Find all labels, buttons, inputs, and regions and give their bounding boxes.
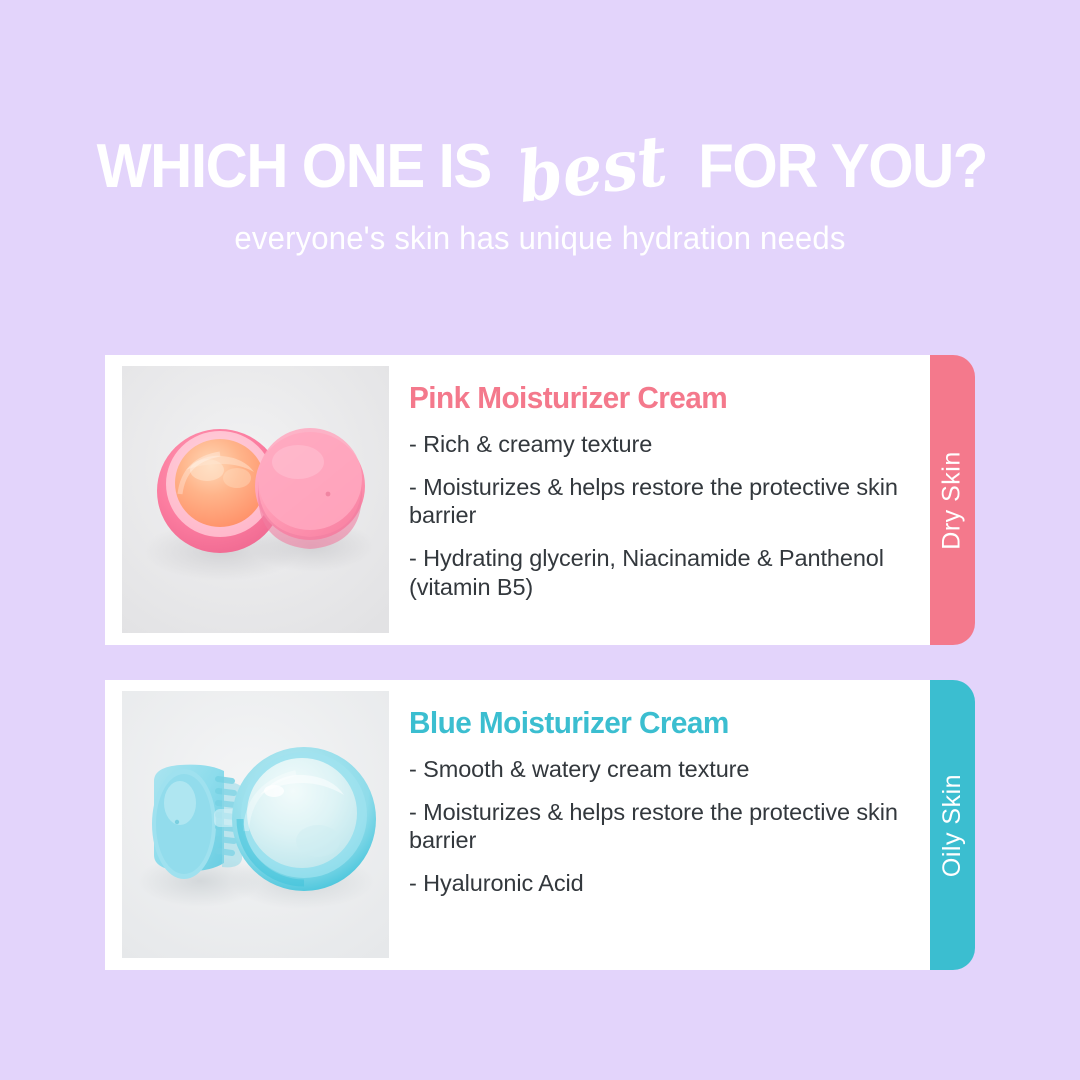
pink-moisturizer-jar-icon <box>122 366 389 633</box>
feature-bullet: - Hydrating glycerin, Niacinamide & Pant… <box>409 544 906 601</box>
feature-bullet: - Rich & creamy texture <box>409 430 906 459</box>
headline-after: FOR YOU? <box>698 136 987 198</box>
feature-bullet: - Moisturizes & helps restore the protec… <box>409 798 906 855</box>
product-photo-blue <box>122 691 389 958</box>
product-card-blue[interactable]: Blue Moisturizer Cream - Smooth & watery… <box>105 680 930 970</box>
blue-moisturizer-jar-icon <box>122 691 389 958</box>
feature-bullet: - Smooth & watery cream texture <box>409 755 906 784</box>
product-title-pink: Pink Moisturizer Cream <box>409 381 886 415</box>
product-card-pink[interactable]: Pink Moisturizer Cream - Rich & creamy t… <box>105 355 930 645</box>
skin-type-tab-oily-label: Oily Skin <box>938 773 967 876</box>
feature-bullet: - Moisturizes & helps restore the protec… <box>409 473 906 530</box>
subtitle: everyone's skin has unique hydration nee… <box>16 220 1064 257</box>
product-photo-pink <box>122 366 389 633</box>
product-title-blue: Blue Moisturizer Cream <box>409 706 886 740</box>
page-title: WHICH ONE IS best FOR YOU? <box>0 128 1080 198</box>
feature-bullet: - Hyaluronic Acid <box>409 869 906 898</box>
skin-type-tab-oily[interactable]: Oily Skin <box>930 680 975 970</box>
headline-before: WHICH ONE IS <box>97 136 491 198</box>
header: WHICH ONE IS best FOR YOU? everyone's sk… <box>0 128 1080 257</box>
card-body-blue: Blue Moisturizer Cream - Smooth & watery… <box>389 680 930 912</box>
skin-type-tab-dry-label: Dry Skin <box>938 451 967 549</box>
headline-script-word: best <box>505 124 679 214</box>
skin-type-tab-dry[interactable]: Dry Skin <box>930 355 975 645</box>
card-body-pink: Pink Moisturizer Cream - Rich & creamy t… <box>389 355 930 615</box>
